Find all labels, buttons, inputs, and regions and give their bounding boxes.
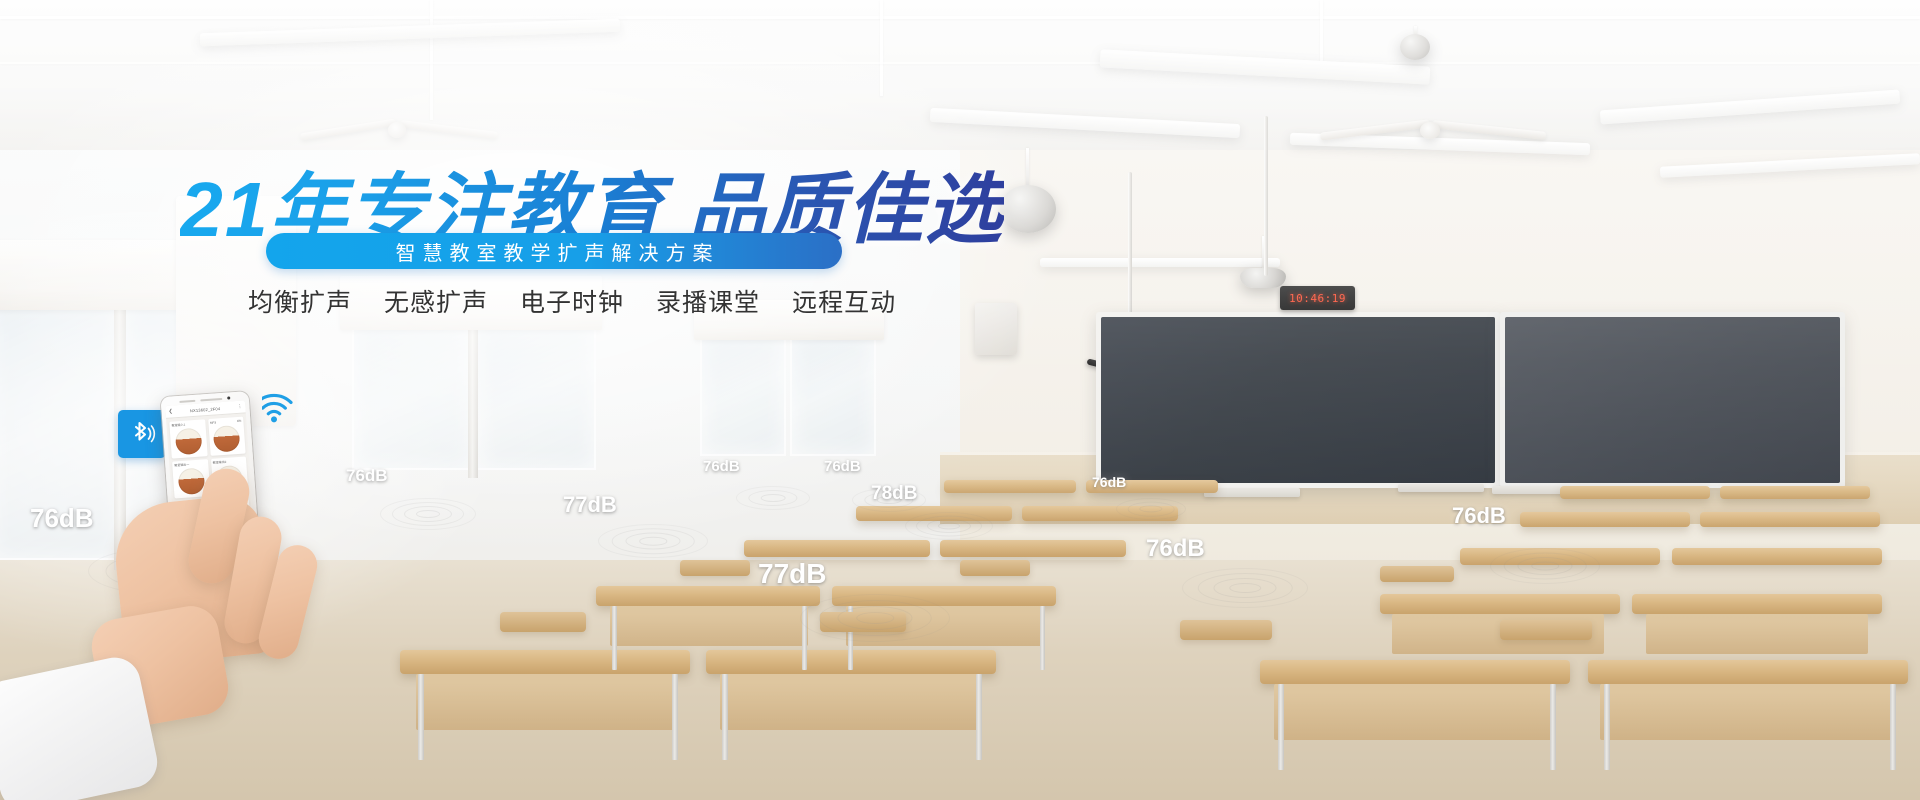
chair-1: [500, 612, 586, 632]
window-pane-5: [700, 330, 786, 456]
desk-leg-4: [976, 674, 982, 760]
sound-ring-set-9: [1490, 548, 1600, 584]
app-volume-knob[interactable]: [175, 428, 203, 456]
db-reading-1: 76dB: [346, 466, 388, 486]
desk-row1-a: [400, 650, 690, 674]
desk-panel-b: [720, 674, 982, 730]
desk-row3-b: [940, 540, 1126, 557]
window-pane-3: [352, 320, 472, 470]
ceiling-mic-pole-2: [1264, 116, 1268, 276]
app-title: NX13602_2F04: [173, 404, 238, 414]
feature-list: 均衡扩声无感扩声电子时钟录播课堂远程互动: [248, 283, 896, 319]
desk-row5-c: [1560, 486, 1710, 499]
chair-6: [960, 560, 1030, 576]
sound-ring: [1490, 548, 1600, 584]
app-card-head: 教室输出一: [174, 461, 206, 467]
db-reading-5: 78dB: [871, 483, 917, 505]
desk-row3-d: [1672, 548, 1882, 565]
solution-pill-label: 智慧教室教学扩声解决方案: [389, 237, 720, 266]
sound-ring: [736, 486, 810, 510]
app-card-label: 教室输入1: [171, 423, 185, 428]
sound-ring-set-6: [800, 594, 950, 642]
feature-item-1: 无感扩声: [384, 283, 488, 319]
desk-panel-c: [1274, 684, 1556, 740]
app-card-label: 教室输出一: [174, 462, 189, 467]
ceiling-speaker-3: [1400, 34, 1430, 60]
chalkboard-side: [1500, 312, 1845, 488]
desk-row4-c: [1520, 512, 1690, 527]
feature-item-4: 远程互动: [792, 283, 896, 319]
sound-ring-set-2: [598, 524, 708, 558]
desk-row5-a: [944, 480, 1076, 493]
chair-3: [1180, 620, 1272, 640]
ceiling-seam-2: [430, 0, 433, 120]
sound-ring-set-5: [905, 512, 993, 540]
app-channel-card-1[interactable]: MP3ON: [208, 417, 246, 456]
desk-row1-c: [1260, 660, 1570, 684]
window-pane-4: [476, 320, 596, 470]
chalkboard-main: [1096, 312, 1500, 488]
ceiling-fan-right: [1320, 108, 1550, 152]
chair-7: [1380, 566, 1454, 582]
ceiling-speaker-2: [1240, 268, 1286, 288]
db-reading-0: 76dB: [30, 503, 94, 534]
sound-ring-set-3: [736, 486, 810, 510]
app-card-badge: ON: [237, 419, 242, 423]
desk-leg-5: [1278, 684, 1284, 770]
bluetooth-badge[interactable]: [118, 410, 166, 458]
db-reading-4: 76dB: [824, 458, 861, 475]
desk-row1-d: [1588, 660, 1908, 684]
ceiling-seam-3: [880, 0, 883, 96]
desk-row3-a: [744, 540, 930, 557]
app-card-head: MP3ON: [210, 419, 242, 425]
desk-leg-1: [418, 674, 424, 760]
chair-5: [680, 560, 750, 576]
wifi-signal-icon: [262, 384, 308, 430]
desk-leg-3: [722, 674, 728, 760]
feature-item-3: 录播课堂: [656, 283, 760, 319]
app-card-head: 教室输入1: [171, 421, 203, 427]
ceiling-lightbar-4: [1040, 258, 1280, 267]
db-reading-7: 76dB: [1092, 474, 1126, 490]
phone-speaker-slot-2: [200, 397, 222, 401]
chalkboard-surface: [1101, 317, 1495, 483]
ceiling-fan-left: [300, 110, 500, 150]
app-volume-knob[interactable]: [213, 425, 241, 453]
app-card-head: 教室输出2: [213, 459, 245, 465]
desk-panel-a: [416, 674, 678, 730]
chalkboard-tray-3: [1492, 486, 1570, 494]
solution-pill-banner: 智慧教室教学扩声解决方案: [266, 233, 842, 269]
chalkboard-side-surface: [1505, 317, 1840, 483]
window-pane-6: [790, 330, 876, 456]
desk-leg-2: [672, 674, 678, 760]
desk-panel-e: [610, 606, 808, 646]
feature-item-0: 均衡扩声: [248, 283, 352, 319]
chalkboard-tray-1: [1204, 488, 1300, 497]
app-channel-card-0[interactable]: 教室输入1: [169, 419, 207, 458]
desk-row5-d: [1720, 486, 1870, 499]
sound-ring-set-8: [1182, 568, 1308, 608]
ceiling-speaker-1: [1000, 185, 1056, 233]
desk-leg-8: [1890, 684, 1896, 770]
phone-speaker-slot: [179, 399, 195, 402]
ceiling-slab: [0, 0, 1920, 150]
more-vertical-icon[interactable]: ⋮: [237, 404, 242, 409]
db-reading-8: 76dB: [1146, 535, 1205, 563]
app-volume-knob[interactable]: [177, 467, 205, 495]
desk-row4-d: [1700, 512, 1880, 527]
db-reading-3: 76dB: [703, 458, 740, 475]
wall-speaker: [975, 303, 1017, 355]
desk-leg-6: [1550, 684, 1556, 770]
phone-front-camera: [227, 396, 230, 399]
bluetooth-icon: [127, 419, 157, 449]
db-reading-9: 76dB: [1452, 503, 1506, 529]
window-mullion-2: [468, 312, 478, 478]
ceiling-seam-5: [0, 62, 1920, 64]
sound-ring-set-1: [380, 498, 476, 530]
sound-ring: [598, 524, 708, 558]
desk-row2-c: [1380, 594, 1620, 614]
chair-4: [1500, 620, 1592, 640]
db-reading-6: 77dB: [758, 558, 826, 590]
clock-time-text: 10:46:19: [1289, 292, 1346, 305]
desk-panel-d: [1600, 684, 1896, 740]
db-reading-2: 77dB: [563, 492, 617, 518]
sound-ring: [800, 594, 950, 642]
classroom-hero-banner: 10:46:19 76dB76dB: [0, 0, 1920, 800]
wifi-signal-badge: [262, 384, 308, 430]
desk-panel-h: [1646, 614, 1868, 654]
sound-ring-set-7: [1116, 498, 1186, 520]
desk-row2-d: [1632, 594, 1882, 614]
desk-leg-9: [612, 606, 617, 670]
feature-item-2: 电子时钟: [520, 283, 624, 319]
sound-ring: [1182, 568, 1308, 608]
ceiling-seam-1: [0, 16, 1920, 19]
desk-leg-7: [1604, 684, 1610, 770]
sound-ring: [380, 498, 476, 530]
desk-leg-12: [1040, 606, 1045, 670]
app-card-label: MP3: [210, 420, 216, 424]
sound-ring: [1116, 498, 1186, 520]
chalkboard-tray-2: [1398, 484, 1484, 492]
sound-ring: [905, 512, 993, 540]
app-card-label: 教室输出2: [213, 460, 227, 465]
classroom-digital-clock: 10:46:19: [1280, 286, 1355, 310]
